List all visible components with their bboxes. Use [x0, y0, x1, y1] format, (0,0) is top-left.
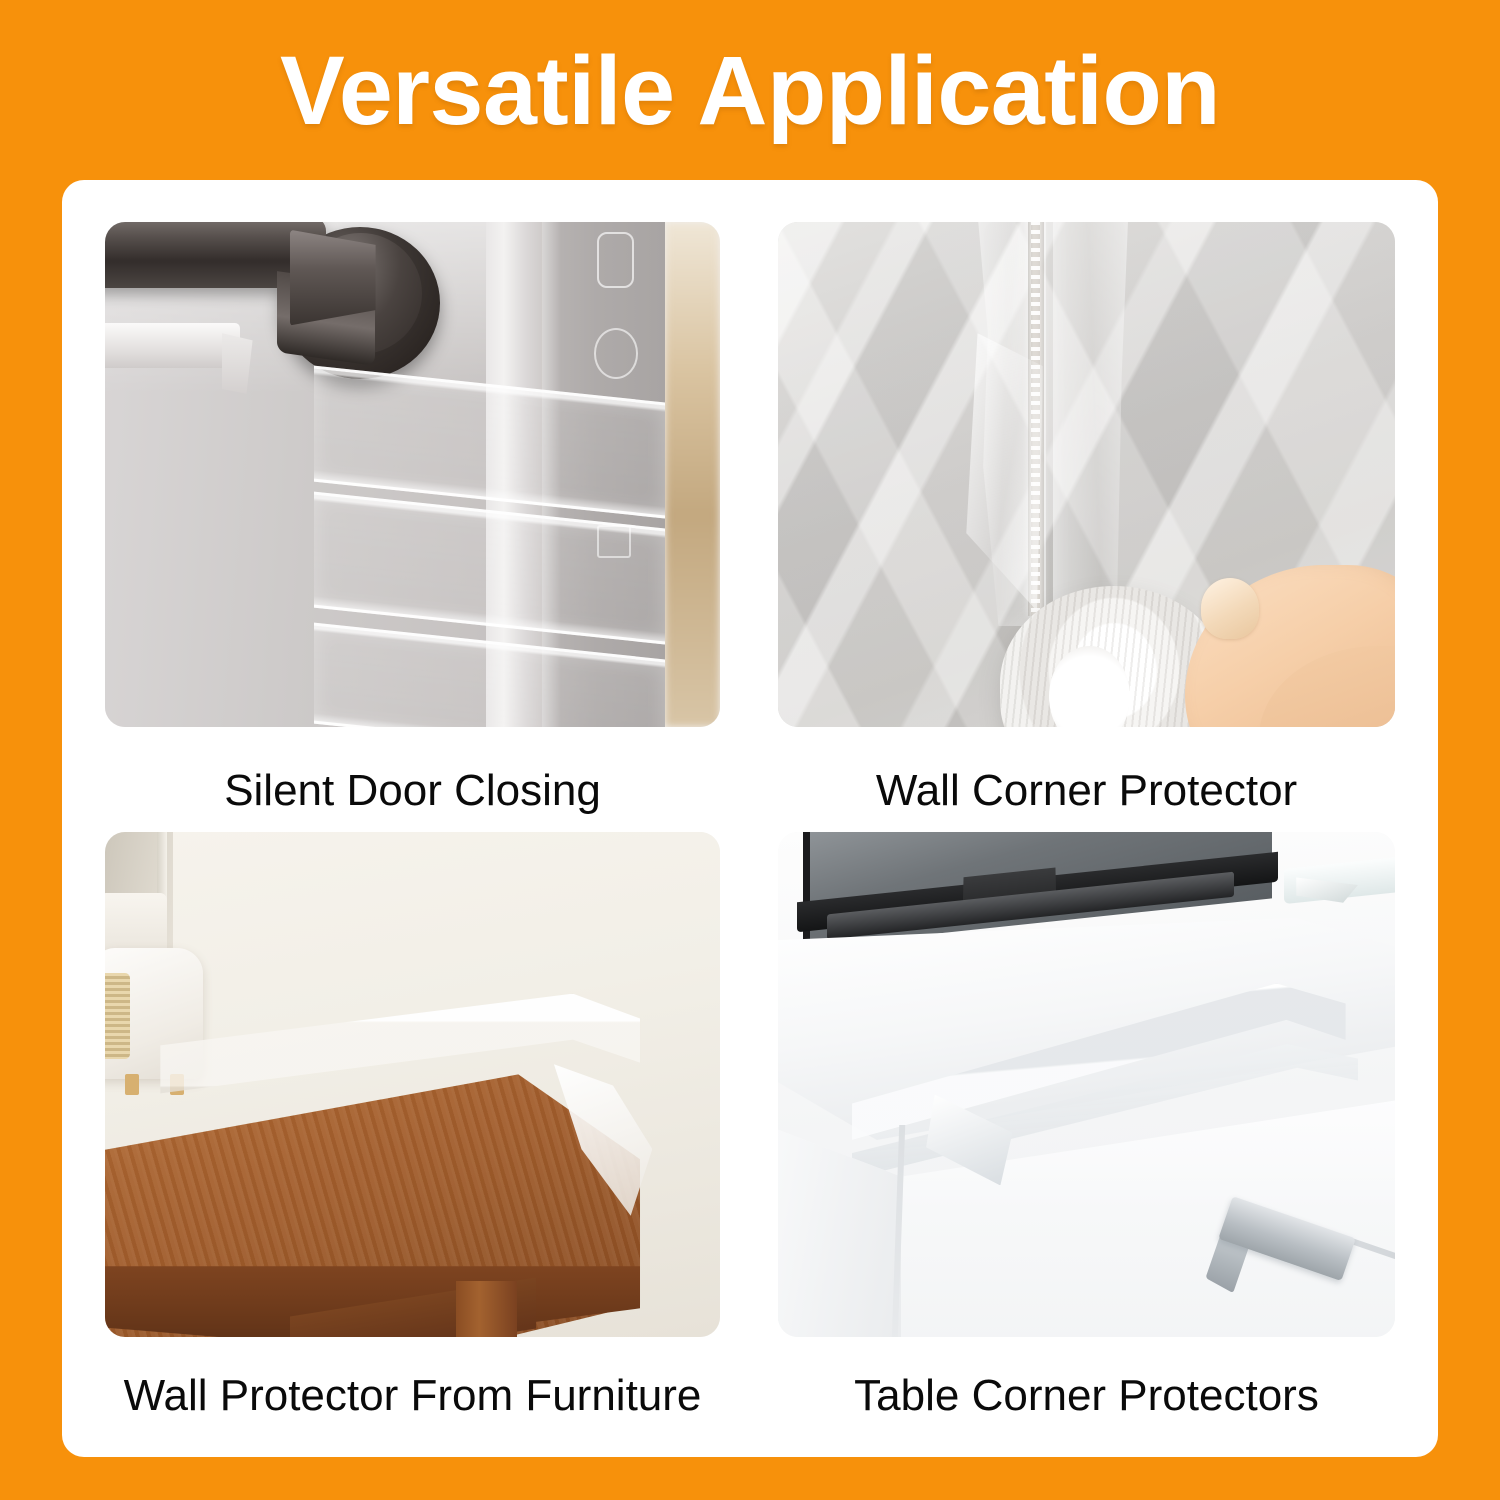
door-lever-tip [290, 230, 376, 326]
panel-wall-corner-protector[interactable]: Wall Corner Protector [778, 222, 1395, 832]
content-card: Silent Door Closing Wall Corner [62, 180, 1438, 1457]
door-trim [105, 323, 240, 368]
caption-wall-corner-protector: Wall Corner Protector [778, 767, 1395, 815]
appliance-foot-left [125, 1074, 140, 1094]
caption-table-corner-protectors: Table Corner Protectors [778, 1372, 1395, 1420]
photo-wall-corner-protector [778, 222, 1395, 727]
panel-grid: Silent Door Closing Wall Corner [105, 222, 1395, 1412]
door-pill-marking [597, 232, 634, 288]
panel-silent-door-closing[interactable]: Silent Door Closing [105, 222, 720, 832]
caption-silent-door-closing: Silent Door Closing [105, 767, 720, 815]
panel-table-corner-protectors[interactable]: Table Corner Protectors [778, 832, 1395, 1412]
title-bar: Versatile Application [0, 0, 1500, 180]
fingernail [1201, 578, 1260, 639]
infographic-page: Versatile Application [0, 0, 1500, 1500]
caption-wall-protector-from-furniture: Wall Protector From Furniture [105, 1372, 720, 1420]
panel-wall-protector-from-furniture[interactable]: Wall Protector From Furniture [105, 832, 720, 1412]
photo-wall-protector-from-furniture [105, 832, 720, 1337]
wood-table-leg [456, 1281, 518, 1337]
page-title: Versatile Application [280, 42, 1220, 139]
door-circle-marking [594, 328, 638, 379]
photo-table-corner-protectors [778, 832, 1395, 1337]
photo-silent-door-closing [105, 222, 720, 727]
background-room-blur [665, 222, 720, 727]
appliance-vent-grille [105, 973, 130, 1059]
